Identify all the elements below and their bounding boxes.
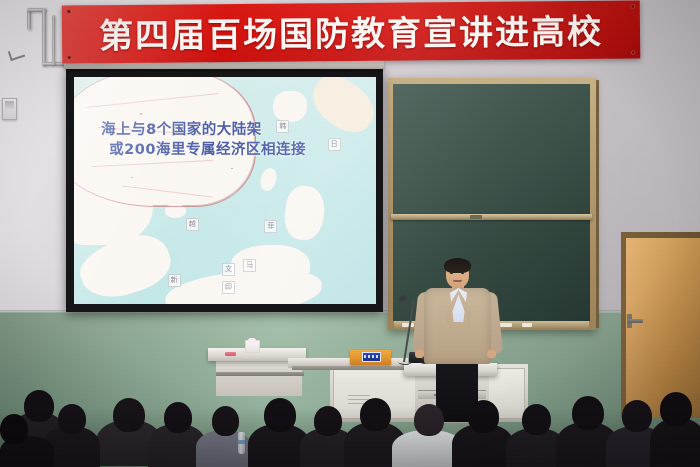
presenter-eye-right [461, 272, 464, 274]
audience-head [468, 400, 499, 433]
water-bottle [238, 432, 245, 454]
console-display [362, 352, 381, 362]
projection-screen-surface: 韩 日 越 菲 文 马 新 印 海上与8个国家的大陆架 或200海里专属经济区相… [74, 77, 376, 304]
banner-text: 第四届百场国防教育宣讲进高校 [62, 4, 640, 58]
projection-screen: 韩 日 越 菲 文 马 新 印 海上与8个国家的大陆架 或200海里专属经济区相… [66, 68, 383, 312]
classroom-photo-scene: 第四届百场国防教育宣讲进高校 韩 日 [0, 0, 700, 467]
audience-head [264, 398, 296, 432]
cable [398, 358, 412, 365]
audience-head [572, 396, 604, 430]
audience-head [113, 398, 145, 432]
map-label-philippines: 菲 [264, 220, 277, 233]
chalk-stick [522, 323, 532, 327]
map-label-indonesia: 印 [222, 281, 235, 294]
audience-head [0, 414, 28, 444]
event-banner: 第四届百场国防教育宣讲进高校 [62, 0, 640, 63]
conduit-pipe-vertical-b [42, 8, 46, 66]
map-label-vietnam: 越 [186, 218, 199, 231]
audience-head [164, 402, 192, 433]
map-label-brunei: 文 [222, 263, 235, 276]
presenter-right-hand [487, 350, 496, 358]
teaching-desk-rail [216, 372, 304, 376]
map-label-malaysia: 马 [243, 259, 256, 272]
audience-head [58, 404, 86, 434]
tissue-box [245, 340, 260, 353]
audience-head [414, 404, 444, 436]
blackboard-surface [393, 84, 590, 321]
secondary-desk-rail [292, 366, 410, 370]
map-label-singapore: 新 [168, 274, 181, 287]
slide-caption: 海上与8个国家的大陆架 或200海里专属经济区相连接 [101, 120, 355, 160]
slide-caption-line-2: 或200海里专属经济区相连接 [101, 140, 355, 160]
audience-head [522, 404, 551, 435]
audience-head [212, 406, 239, 436]
slide-caption-line-1: 海上与8个国家的大陆架 [101, 120, 355, 140]
presenter-eye-left [450, 272, 453, 274]
slide-map-city-dot [140, 113, 142, 115]
presenter-hair [444, 258, 471, 273]
blackboard-divider-rail [391, 214, 592, 220]
blackboard-clip [470, 215, 482, 219]
audience-head [314, 406, 342, 436]
wall-junction-box [2, 98, 17, 120]
control-console[interactable] [350, 350, 391, 365]
presenter-left-hand [415, 350, 424, 358]
audience-head [24, 390, 54, 422]
audience-head [660, 392, 692, 426]
pink-object-on-desk [225, 352, 236, 356]
audience-head [622, 400, 652, 432]
audience-head [360, 398, 391, 431]
conduit-pipe-vertical-c [52, 15, 55, 65]
door-handle[interactable] [628, 319, 643, 323]
classroom-door[interactable] [626, 238, 700, 418]
slide-map-landmass-korea [273, 91, 306, 123]
